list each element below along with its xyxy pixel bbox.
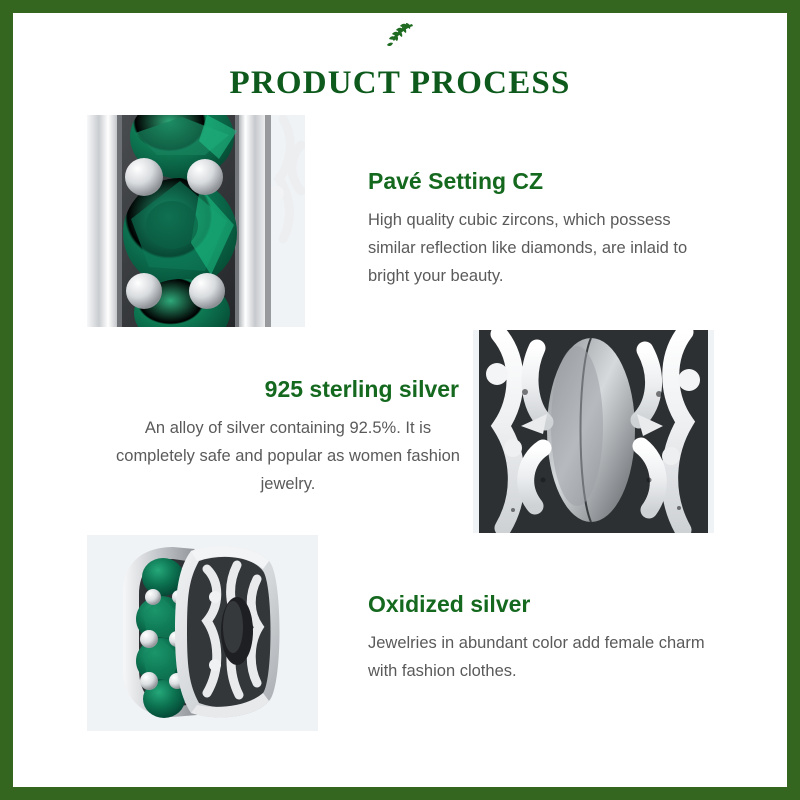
section-heading-sterling: 925 sterling silver — [113, 376, 463, 404]
product-process-infographic: PRODUCT PROCESS — [0, 0, 800, 800]
section-925-sterling-silver: 925 sterling silver An alloy of silver c… — [113, 376, 463, 499]
infographic-canvas: PRODUCT PROCESS — [13, 13, 787, 787]
section-heading-pave: Pavé Setting CZ — [368, 168, 718, 196]
section-body-pave: High quality cubic zircons, which posses… — [368, 206, 718, 291]
sterling-silver-filigree-photo — [473, 330, 714, 533]
section-body-sterling: An alloy of silver containing 92.5%. It … — [113, 414, 463, 499]
page-title: PRODUCT PROCESS — [13, 65, 787, 102]
section-body-oxidized: Jewelries in abundant color add female c… — [368, 629, 708, 686]
section-heading-oxidized: Oxidized silver — [368, 591, 708, 619]
pave-setting-macro-photo — [87, 115, 305, 327]
section-oxidized-silver: Oxidized silver Jewelries in abundant co… — [368, 591, 708, 685]
oxidized-silver-bead-photo — [87, 535, 318, 731]
section-pave-setting-cz: Pavé Setting CZ High quality cubic zirco… — [368, 168, 718, 291]
leaf-branch-icon — [13, 21, 787, 51]
